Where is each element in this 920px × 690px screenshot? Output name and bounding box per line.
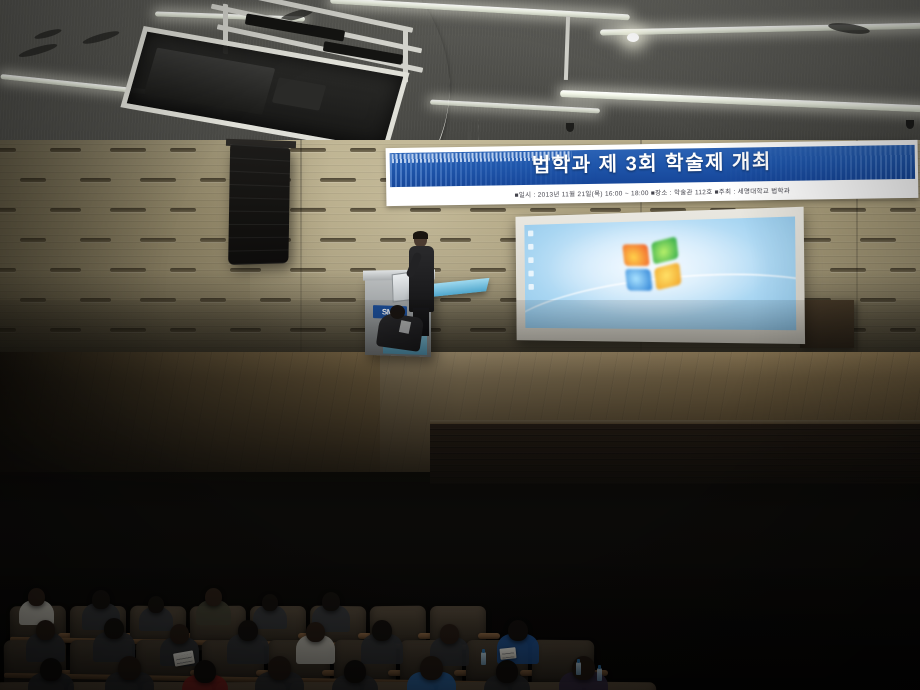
- audience-person-head: [205, 588, 222, 606]
- audience-person-head: [372, 620, 392, 641]
- desktop-icon: [528, 230, 533, 236]
- water-bottle: [481, 652, 486, 665]
- audience-seating-area: [0, 300, 920, 690]
- audience-person-head: [322, 592, 340, 611]
- ceiling-lamp-1: [627, 33, 639, 42]
- audience-person-head: [170, 624, 189, 644]
- audience-person-head: [28, 588, 45, 606]
- projector-lens-icon: [272, 77, 326, 110]
- wall-slot: [530, 208, 556, 212]
- audience-person-head: [238, 620, 258, 641]
- line-array-speaker: [228, 144, 290, 265]
- wall-slot: [410, 208, 441, 212]
- booklet-text-lines: [502, 650, 515, 658]
- event-banner: 법학과 제 3회 학술제 개최 ■일시 : 2013년 11월 21일(목) 1…: [386, 140, 919, 206]
- wall-slot: [350, 208, 376, 212]
- desktop-icon: [528, 271, 533, 277]
- audience-person-head: [148, 596, 164, 613]
- audience-person-head: [92, 590, 110, 609]
- desktop-icons: [528, 230, 535, 299]
- wall-slot: [830, 208, 866, 212]
- windows-logo-quadrant-yellow: [654, 263, 682, 291]
- audience-person-head: [262, 594, 278, 611]
- audience-person-head: [194, 660, 216, 683]
- windows-logo-quadrant-blue: [624, 269, 652, 291]
- ceiling: [0, 0, 920, 150]
- water-bottle: [576, 662, 581, 675]
- windows-logo-quadrant-red: [622, 245, 650, 267]
- booklet-text-lines: [176, 654, 193, 664]
- water-bottle: [597, 668, 602, 681]
- security-camera-icon: [906, 120, 914, 129]
- audience-person-head: [36, 620, 55, 640]
- wall-slot: [590, 208, 621, 212]
- wall-slot: [380, 238, 406, 242]
- projector-body: [144, 48, 275, 115]
- wall-slot: [890, 208, 916, 212]
- audience-person-head: [508, 620, 528, 641]
- audience-person-head: [344, 660, 366, 683]
- wall-slot: [440, 238, 471, 242]
- ceiling-projector: [175, 0, 475, 120]
- desktop-icon: [528, 284, 533, 290]
- audience-person-head: [268, 656, 291, 680]
- speaker-grille: [228, 144, 290, 265]
- security-camera-icon: [566, 123, 574, 132]
- audience-person-head: [440, 624, 459, 644]
- audience-person-head: [496, 660, 518, 683]
- audience-person-head: [104, 618, 124, 639]
- desktop-icon: [528, 257, 533, 263]
- program-booklet: [499, 647, 516, 660]
- audience-person-head: [306, 622, 325, 642]
- audience-person-head: [420, 656, 443, 680]
- auditorium-photo: 법학과 제 3회 학술제 개최 ■일시 : 2013년 11월 21일(목) 1…: [0, 0, 920, 690]
- seat-armrest: [478, 633, 500, 638]
- wall-slot: [860, 238, 896, 242]
- audience-person-head: [40, 658, 62, 681]
- wall-slot: [800, 238, 831, 242]
- wall-slot: [350, 148, 376, 152]
- windows-logo: [622, 238, 686, 297]
- audience-person-head: [118, 656, 141, 680]
- windows-logo-quadrant-green: [651, 237, 679, 265]
- desktop-icon: [528, 244, 533, 250]
- presenter-hair: [413, 231, 428, 239]
- wall-slot: [470, 208, 506, 212]
